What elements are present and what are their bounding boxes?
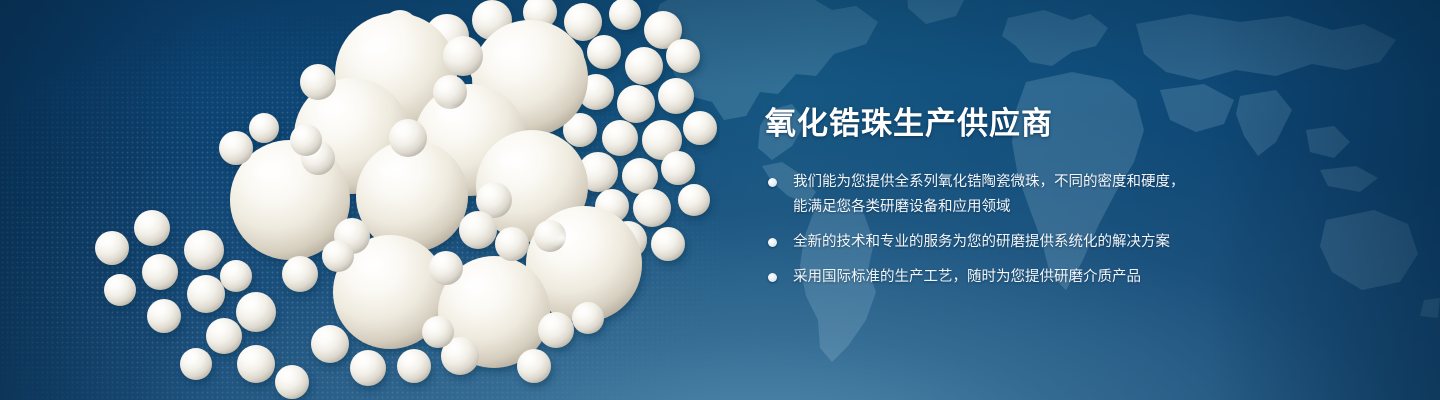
banner-bullet-list: 我们能为您提供全系列氧化锆陶瓷微珠，不同的密度和硬度， 能满足您各类研磨设备和应… [765,170,1365,290]
banner-bullet-item: 采用国际标准的生产工艺，随时为您提供研磨介质产品 [765,265,1365,290]
bead-cluster-illustration [0,0,720,400]
bullet-marker-icon [768,178,777,187]
bullet-marker-icon [768,273,777,282]
banner-copy: 氧化锆珠生产供应商 我们能为您提供全系列氧化锆陶瓷微珠，不同的密度和硬度， 能满… [765,104,1365,290]
banner-bullet-item: 我们能为您提供全系列氧化锆陶瓷微珠，不同的密度和硬度， 能满足您各类研磨设备和应… [765,170,1365,220]
bullet-marker-icon [768,238,777,247]
bullet-line-1: 采用国际标准的生产工艺，随时为您提供研磨介质产品 [793,265,1365,290]
bullet-line-2: 能满足您各类研磨设备和应用领域 [793,195,1365,220]
hero-banner: 氧化锆珠生产供应商 我们能为您提供全系列氧化锆陶瓷微珠，不同的密度和硬度， 能满… [0,0,1440,400]
banner-headline: 氧化锆珠生产供应商 [765,104,1365,144]
bullet-line-1: 我们能为您提供全系列氧化锆陶瓷微珠，不同的密度和硬度， [793,170,1365,195]
banner-bullet-item: 全新的技术和专业的服务为您的研磨提供系统化的解决方案 [765,230,1365,255]
bullet-line-1: 全新的技术和专业的服务为您的研磨提供系统化的解决方案 [793,230,1365,255]
zirconia-beads-photo [0,0,720,400]
